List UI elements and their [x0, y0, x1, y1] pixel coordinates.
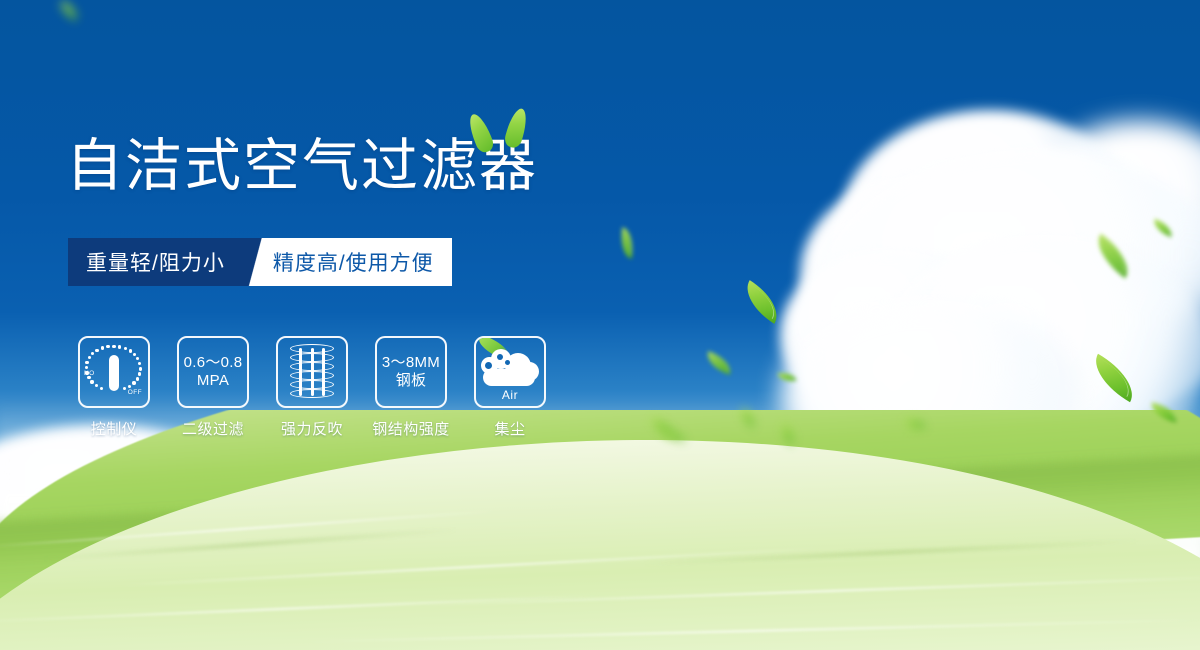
subtitle-left-panel: 重量轻/阻力小 — [68, 238, 245, 286]
grass-field — [0, 410, 1200, 650]
air-cloud-icon: Air — [479, 343, 541, 401]
steel-plate-text-icon-box: 3～8MM 钢板 — [375, 336, 447, 408]
hero-banner: 自洁式空气过滤器 重量轻/阻力小 精度高/使用方便 — [0, 0, 1200, 650]
feature-caption: 集尘 — [494, 418, 525, 439]
leaf-icon — [503, 106, 530, 149]
feature-item-dust[interactable]: Air 集尘 — [472, 336, 548, 439]
title-leaf-decoration — [470, 108, 540, 156]
feature-item-steel[interactable]: 3～8MM 钢板 钢结构强度 — [373, 336, 449, 439]
feature-item-backblow[interactable]: 强力反吹 — [274, 336, 350, 439]
filter-cartridge-icon-box — [276, 336, 348, 408]
air-cloud-icon-box: Air — [474, 336, 546, 408]
subtitle-right-text: 精度高/使用方便 — [273, 247, 434, 277]
feature-caption: 二级过滤 — [182, 418, 244, 439]
page-title: 自洁式空气过滤器 — [66, 138, 538, 195]
leaf-icon — [465, 111, 496, 154]
feature-caption: 控制仪 — [91, 418, 138, 439]
subtitle-right-panel: 精度高/使用方便 — [271, 238, 452, 286]
feature-list: NO OFF 控制仪 0.6～0.8 MPA 二级过滤 — [76, 336, 548, 439]
subtitle-divider — [245, 238, 271, 286]
gauge-label-no: NO — [84, 370, 95, 377]
pressure-value: 0.6～0.8 — [184, 354, 243, 371]
pressure-text-icon: 0.6～0.8 MPA — [184, 354, 243, 391]
subtitle-bar: 重量轻/阻力小 精度高/使用方便 — [68, 238, 452, 286]
gauge-needle — [109, 355, 119, 391]
air-label: Air — [479, 388, 541, 402]
gauge-icon-box: NO OFF — [78, 336, 150, 408]
filter-cartridge-icon — [290, 344, 334, 400]
feature-item-pressure[interactable]: 0.6～0.8 MPA 二级过滤 — [175, 336, 251, 439]
feature-item-controller[interactable]: NO OFF 控制仪 — [76, 336, 152, 439]
feature-caption: 强力反吹 — [281, 418, 343, 439]
feature-caption: 钢结构强度 — [372, 418, 450, 439]
steel-material: 钢板 — [382, 372, 440, 390]
steel-thickness: 3～8MM — [382, 354, 440, 371]
gauge-label-off: OFF — [128, 389, 142, 396]
steel-plate-text-icon: 3～8MM 钢板 — [382, 354, 440, 391]
pressure-text-icon-box: 0.6～0.8 MPA — [177, 336, 249, 408]
pressure-unit: MPA — [184, 372, 243, 390]
gauge-icon: NO OFF — [84, 343, 144, 401]
subtitle-left-text: 重量轻/阻力小 — [86, 247, 225, 277]
